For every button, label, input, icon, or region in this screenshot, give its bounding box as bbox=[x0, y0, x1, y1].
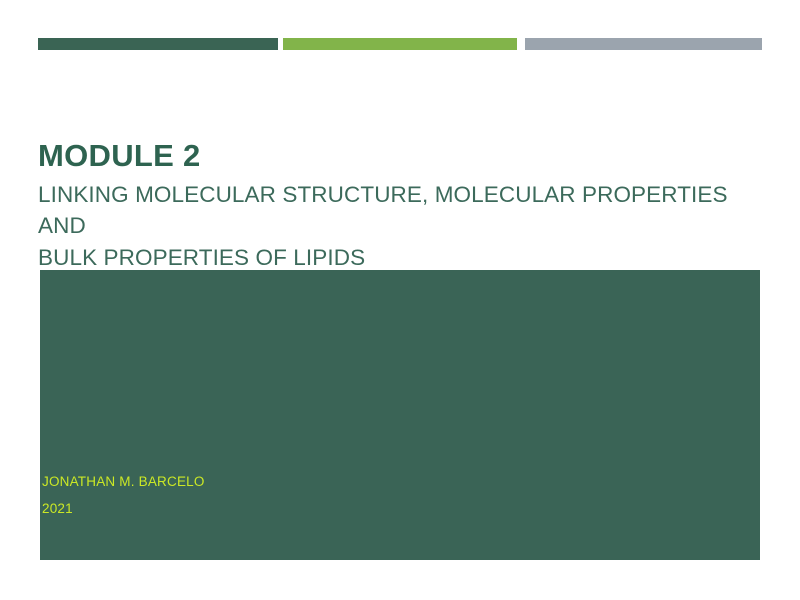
byline-author: JONATHAN M. BARCELO bbox=[42, 469, 742, 495]
title-block: MODULE 2 LINKING MOLECULAR STRUCTURE, MO… bbox=[38, 140, 762, 274]
page-title: MODULE 2 bbox=[38, 140, 762, 173]
light-green-bar bbox=[283, 38, 517, 50]
subtitle-line-1: LINKING MOLECULAR STRUCTURE, MOLECULAR P… bbox=[38, 179, 762, 243]
gray-bar bbox=[525, 38, 762, 50]
accent-bar-group bbox=[0, 38, 800, 50]
byline-year: 2021 bbox=[42, 496, 742, 522]
dark-green-bar bbox=[38, 38, 278, 50]
byline: JONATHAN M. BARCELO 2021 bbox=[42, 469, 742, 522]
page-subtitle: LINKING MOLECULAR STRUCTURE, MOLECULAR P… bbox=[38, 179, 762, 275]
title-slide: MODULE 2 LINKING MOLECULAR STRUCTURE, MO… bbox=[0, 0, 800, 600]
content-panel: JONATHAN M. BARCELO 2021 bbox=[40, 270, 760, 560]
